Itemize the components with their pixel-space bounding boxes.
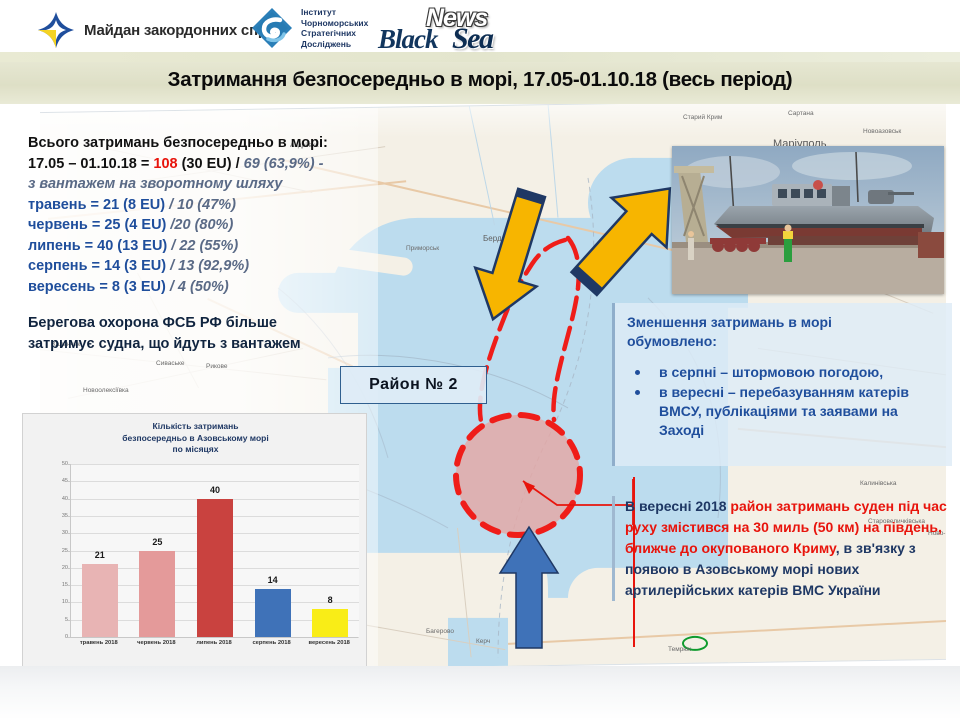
month-line: вересень = 8 (3 EU) / 4 (50%) bbox=[28, 277, 378, 298]
chart-bar-value-label: 14 bbox=[245, 575, 301, 585]
month-line-main: вересень = 8 (3 EU) bbox=[28, 279, 166, 295]
header-bar: Майдан закордонних справ Інститут Чорном… bbox=[0, 0, 960, 60]
reduction-heading: Зменшення затримань в морі обумовлено: bbox=[627, 313, 942, 351]
month-breakdown-list: травень = 21 (8 EU) / 10 (47%)червень = … bbox=[28, 195, 378, 298]
chart-y-tick-label: 35 bbox=[42, 513, 68, 519]
chart-title-line-2: безпосередньо в Азовському морі bbox=[23, 433, 368, 445]
month-line-main: липень = 40 (13 EU) bbox=[28, 238, 167, 254]
month-line-extra: / 22 (55%) bbox=[167, 238, 238, 254]
ibsr-line-2: Чорноморських bbox=[301, 18, 368, 29]
shift-note-prefix: В вересні 2018 bbox=[625, 498, 730, 514]
month-line-main: червень = 25 (4 EU) bbox=[28, 217, 166, 233]
month-line: липень = 40 (13 EU) / 22 (55%) bbox=[28, 236, 378, 257]
chart-bar bbox=[139, 551, 175, 638]
maidan-logo[interactable]: Майдан закордонних справ bbox=[36, 10, 284, 50]
chart-y-tick-mark bbox=[68, 516, 71, 517]
region-label-text: Район № 2 bbox=[369, 376, 458, 394]
left-line-2-italic: 69 (63,9%) - bbox=[244, 156, 324, 172]
chart-y-tick-mark bbox=[68, 551, 71, 552]
region-label-box: Район № 2 bbox=[340, 366, 487, 404]
patrol-boat-photo-graphic bbox=[672, 146, 944, 294]
reduction-bullet: в серпні – штормовою погодою, bbox=[627, 363, 942, 382]
chart-y-tick-label: 10 bbox=[42, 599, 68, 605]
left-note-line-2: затримує судна, що йдуть з вантажем bbox=[28, 334, 388, 355]
chart-bar-value-label: 21 bbox=[72, 550, 128, 560]
left-note-text: Берегова охорона ФСБ РФ більше затримує … bbox=[28, 313, 388, 355]
left-line-1: Всього затримань безпосередньо в морі: bbox=[28, 133, 378, 154]
chart-x-axis bbox=[70, 637, 358, 638]
chart-bar bbox=[197, 499, 233, 637]
map-place-label: Керч bbox=[476, 638, 490, 645]
september-shift-note: В вересні 2018 район затримань суден під… bbox=[612, 496, 960, 601]
chart-bar-value-label: 8 bbox=[302, 595, 358, 605]
left-note-line-1: Берегова охорона ФСБ РФ більше bbox=[28, 313, 388, 334]
chart-bar-value-label: 25 bbox=[129, 537, 185, 547]
month-line-extra: /20 (80%) bbox=[166, 217, 233, 233]
maidan-star-icon bbox=[36, 10, 76, 50]
left-line-2-eu: (30 EU) / bbox=[178, 156, 244, 172]
blacksea-news-logo[interactable]: News Black Sea bbox=[378, 4, 513, 54]
chart-y-tick-mark bbox=[68, 481, 71, 482]
map-place-label: Сиваське bbox=[156, 360, 185, 367]
chart-y-tick-mark bbox=[68, 464, 71, 465]
chart-y-tick-label: 25 bbox=[42, 548, 68, 554]
chart-y-tick-mark bbox=[68, 602, 71, 603]
map-place-label: Темрюк bbox=[668, 646, 691, 653]
month-line-extra: / 10 (47%) bbox=[165, 197, 236, 213]
month-line: серпень = 14 (3 EU) / 13 (92,9%) bbox=[28, 256, 378, 277]
slide-root: АндріївкаСтарий КримСартанаМаріупольМанг… bbox=[0, 0, 960, 720]
worker-figure-2 bbox=[688, 231, 694, 260]
blue-arrow-up bbox=[494, 525, 564, 650]
chart-x-tick-label: вересень 2018 bbox=[294, 640, 364, 646]
bsn-black-text: Black bbox=[378, 24, 438, 55]
left-line-2-prefix: 17.05 – 01.10.18 = bbox=[28, 156, 153, 172]
ibsr-logo[interactable]: Інститут Чорноморських Стратегічних Досл… bbox=[250, 6, 368, 50]
reduction-bullet: в вересні – перебазуванням катерів ВМСУ,… bbox=[627, 383, 942, 440]
month-line: травень = 21 (8 EU) / 10 (47%) bbox=[28, 195, 378, 216]
left-line-2: 17.05 – 01.10.18 = 108 (30 EU) / 69 (63,… bbox=[28, 154, 378, 175]
month-line-main: травень = 21 (8 EU) bbox=[28, 197, 165, 213]
map-place-label: Рикове bbox=[206, 363, 228, 370]
chart-bar bbox=[312, 609, 348, 637]
chart-y-tick-label: 50 bbox=[42, 461, 68, 467]
chart-y-tick-label: 5 bbox=[42, 617, 68, 623]
chart-bar-value-label: 40 bbox=[187, 485, 243, 495]
ibsr-line-3: Стратегічних bbox=[301, 28, 368, 39]
chart-bar bbox=[82, 564, 118, 637]
map-place-label: Сартана bbox=[788, 110, 814, 117]
chart-plot-area: 05101520253035404550212540148 bbox=[70, 464, 359, 637]
ibsr-logo-label: Інститут Чорноморських Стратегічних Досл… bbox=[301, 7, 368, 49]
map-place-label: Старий Крим bbox=[683, 114, 722, 121]
chart-y-tick-mark bbox=[68, 568, 71, 569]
left-summary-text: Всього затримань безпосередньо в морі: 1… bbox=[28, 133, 378, 297]
total-detentions-value: 108 bbox=[153, 156, 177, 172]
map-place-label: Новоазовськ bbox=[863, 128, 901, 135]
chart-y-tick-label: 15 bbox=[42, 582, 68, 588]
bsn-sea-text: Sea bbox=[452, 22, 493, 56]
chart-gridline bbox=[71, 481, 359, 482]
month-line-extra: / 13 (92,9%) bbox=[166, 258, 249, 274]
ibsr-wave-icon bbox=[250, 6, 294, 50]
detentions-bar-chart: Кількість затримань безпосередньо в Азов… bbox=[22, 413, 367, 670]
chart-y-tick-mark bbox=[68, 585, 71, 586]
chart-y-tick-mark bbox=[68, 499, 71, 500]
page-title: Затримання безпосередньо в морі, 17.05-0… bbox=[0, 68, 960, 92]
chart-y-tick-mark bbox=[68, 620, 71, 621]
slide-bottom-margin bbox=[0, 666, 960, 720]
ibsr-line-1: Інститут bbox=[301, 7, 368, 18]
map-place-label: Новоолексіївка bbox=[83, 387, 129, 394]
ibsr-line-4: Досліджень bbox=[301, 39, 368, 50]
chart-y-tick-label: 30 bbox=[42, 530, 68, 536]
month-line-main: серпень = 14 (3 EU) bbox=[28, 258, 166, 274]
chart-y-tick-label: 20 bbox=[42, 565, 68, 571]
chart-y-tick-label: 45 bbox=[42, 478, 68, 484]
chart-bar bbox=[255, 589, 291, 637]
reduction-heading-line-1: Зменшення затримань в морі bbox=[627, 313, 942, 332]
month-line: червень = 25 (4 EU) /20 (80%) bbox=[28, 215, 378, 236]
chart-y-tick-label: 40 bbox=[42, 496, 68, 502]
chart-title: Кількість затримань безпосередньо в Азов… bbox=[23, 421, 368, 456]
chart-title-line-3: по місяцях bbox=[23, 444, 368, 456]
patrol-boat-photo bbox=[672, 146, 944, 294]
reduction-heading-line-2: обумовлено: bbox=[627, 332, 942, 351]
chart-y-tick-mark bbox=[68, 533, 71, 534]
map-place-label: Багерово bbox=[426, 628, 454, 635]
left-line-3: з вантажем на зворотному шляху bbox=[28, 174, 378, 195]
chart-title-line-1: Кількість затримань bbox=[23, 421, 368, 433]
chart-gridline bbox=[71, 464, 359, 465]
map-place-label: Калинівська bbox=[860, 480, 896, 487]
reduction-reasons-box: Зменшення затримань в морі обумовлено: в… bbox=[612, 303, 952, 466]
reduction-bullet-list: в серпні – штормовою погодою,в вересні –… bbox=[627, 363, 942, 440]
month-line-extra: / 4 (50%) bbox=[166, 279, 229, 295]
